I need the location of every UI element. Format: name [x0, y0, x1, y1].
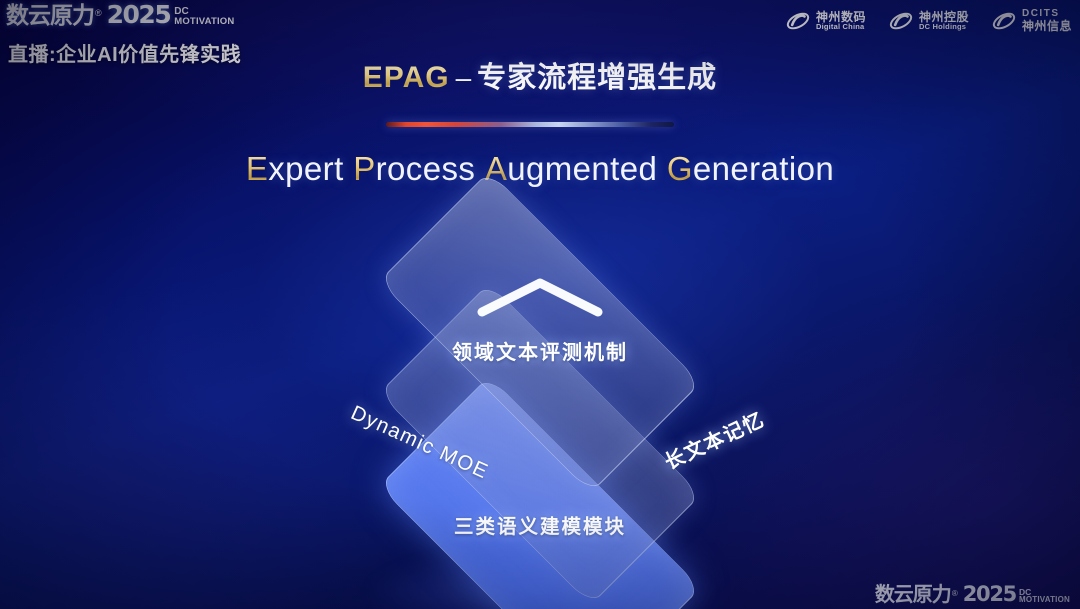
swirl-logo-icon	[888, 8, 914, 34]
subtitle-cap-p: P	[353, 150, 375, 187]
slide-canvas: 数云原力 ® 2025 DC MOTIVATION 直播:企业AI价值先锋实践 …	[0, 0, 1080, 609]
corner-watermark-logo: 数云原力 ® 2025 DC MOTIVATION	[875, 584, 1070, 605]
watermark-year: 2025	[963, 584, 1016, 605]
watermark-dc-motivation: DC MOTIVATION	[1019, 588, 1070, 605]
subtitle-word-generation: Generation	[667, 150, 834, 187]
event-logo-dc-motivation: DC MOTIVATION	[174, 7, 234, 27]
layer-label-bottom: 三类语义建模模块	[454, 510, 626, 539]
event-logo-year: 2025	[107, 2, 171, 27]
watermark-motivation: MOTIVATION	[1019, 596, 1070, 604]
title-dash: –	[450, 62, 478, 93]
page-title: EPAG–专家流程增强生成	[0, 54, 1080, 96]
partner-name-en: DC Holdings	[919, 23, 969, 31]
event-logo-dc: DC	[174, 7, 234, 17]
layered-architecture-diagram: 领域文本评测机制 Dynamic MOE 长文本记忆 三类语义建模模块	[280, 232, 800, 572]
partner-name-block: DCITS 神州信息	[1022, 9, 1072, 32]
subtitle-rest-process: rocess	[376, 150, 476, 187]
subtitle-word-expert: Expert	[246, 150, 344, 187]
subtitle-cap-e: E	[246, 150, 268, 187]
title-chinese: 专家流程增强生成	[477, 62, 717, 94]
title-acronym: EPAG	[363, 61, 450, 94]
partner-logo-bar: 神州数码 Digital China 神州控股 DC Holdings DCIT…	[785, 8, 1072, 34]
subtitle-word-process: Process	[353, 150, 475, 187]
event-logo-cn: 数云原力	[6, 4, 94, 27]
subtitle-rest-generation: eneration	[693, 150, 834, 187]
partner-name-cn: 神州信息	[1022, 20, 1072, 33]
watermark-registered-mark: ®	[952, 589, 958, 598]
subtitle-cap-g: G	[667, 150, 693, 187]
subtitle-rest-expert: xpert	[268, 150, 343, 187]
partner-logo-digital-china: 神州数码 Digital China	[785, 8, 866, 34]
event-logo-motivation: MOTIVATION	[174, 17, 234, 27]
partner-logo-dcits: DCITS 神州信息	[991, 8, 1072, 34]
subtitle-english: Expert Process Augmented Generation	[0, 150, 1080, 188]
swirl-logo-icon	[991, 8, 1017, 34]
swirl-logo-icon	[785, 8, 811, 34]
layer-label-top: 领域文本评测机制	[452, 336, 628, 365]
chevron-up-icon	[474, 274, 606, 320]
watermark-cn: 数云原力	[875, 585, 951, 605]
subtitle-word-augmented: Augmented	[485, 150, 657, 187]
partner-name-en: Digital China	[816, 23, 866, 31]
event-logo: 数云原力 ® 2025 DC MOTIVATION	[6, 2, 241, 27]
partner-name-block: 神州数码 Digital China	[816, 11, 866, 31]
subtitle-rest-augmented: ugmented	[507, 150, 657, 187]
partner-logo-dc-holdings: 神州控股 DC Holdings	[888, 8, 969, 34]
gradient-divider	[386, 122, 674, 127]
partner-name-block: 神州控股 DC Holdings	[919, 11, 969, 31]
event-logo-registered-mark: ®	[95, 8, 102, 18]
